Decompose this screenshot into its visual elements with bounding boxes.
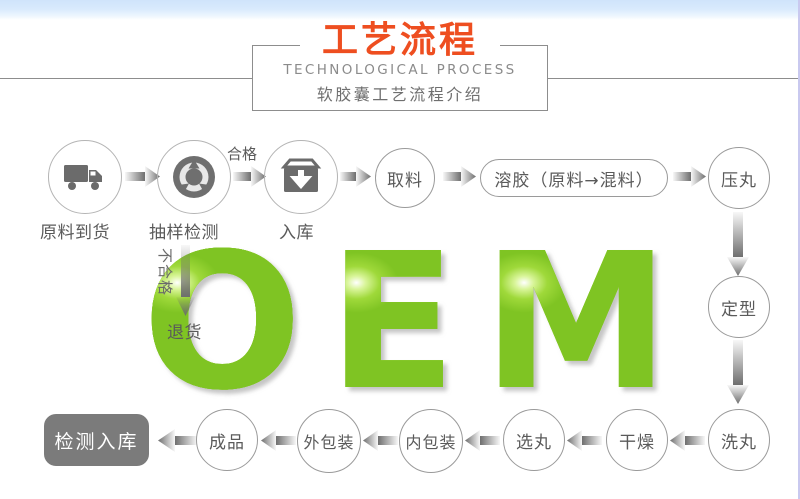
node-inner-packaging-label: 内包装	[405, 429, 456, 453]
caption-raw-material-arrival: 原料到货	[40, 218, 110, 243]
node-drying[interactable]: 干燥	[606, 409, 668, 471]
node-press-pill[interactable]: 压丸	[708, 147, 770, 209]
node-sol-gel[interactable]: 溶胶（原料→混料）	[480, 159, 668, 197]
node-finished-product[interactable]: 成品	[196, 409, 258, 471]
label-fail: 不合格	[155, 248, 176, 296]
node-sol-gel-label: 溶胶（原料→混料）	[494, 166, 653, 191]
node-inspect-and-store[interactable]: 检测入库	[44, 414, 149, 466]
node-shaping[interactable]: 定型	[708, 276, 770, 338]
node-take-material-label: 取料	[387, 166, 423, 191]
node-outer-packaging-label: 外包装	[303, 429, 354, 453]
caption-warehouse-in: 入库	[279, 218, 314, 243]
node-return-goods[interactable]: 退货	[167, 318, 202, 343]
node-finished-product-label: 成品	[209, 428, 245, 453]
node-inner-packaging[interactable]: 内包装	[399, 409, 463, 473]
node-outer-packaging[interactable]: 外包装	[297, 409, 361, 473]
node-select-pill[interactable]: 选丸	[503, 409, 565, 471]
node-shaping-label: 定型	[721, 295, 757, 320]
node-raw-material-arrival[interactable]	[48, 140, 122, 214]
node-take-material[interactable]: 取料	[375, 148, 435, 208]
flow-nodes: 原料到货 抽样检测 入库 取料	[0, 0, 800, 499]
node-warehouse-in[interactable]	[264, 140, 338, 214]
process-flow-infographic: 工艺流程 TECHNOLOGICAL PROCESS 软胶囊工艺流程介绍 O E…	[0, 0, 800, 499]
node-drying-label: 干燥	[619, 428, 655, 453]
inbox-down-arrow-icon	[280, 157, 322, 197]
sampling-inspection-icon	[171, 154, 217, 200]
label-pass: 合格	[227, 143, 257, 164]
node-inspect-and-store-label: 检测入库	[54, 427, 138, 454]
node-wash-pill-label: 洗丸	[721, 428, 757, 453]
node-wash-pill[interactable]: 洗丸	[708, 409, 770, 471]
node-select-pill-label: 选丸	[516, 428, 552, 453]
caption-sampling-inspection: 抽样检测	[149, 218, 219, 243]
truck-icon	[63, 161, 107, 193]
node-press-pill-label: 压丸	[721, 166, 757, 191]
node-sampling-inspection[interactable]	[157, 140, 231, 214]
